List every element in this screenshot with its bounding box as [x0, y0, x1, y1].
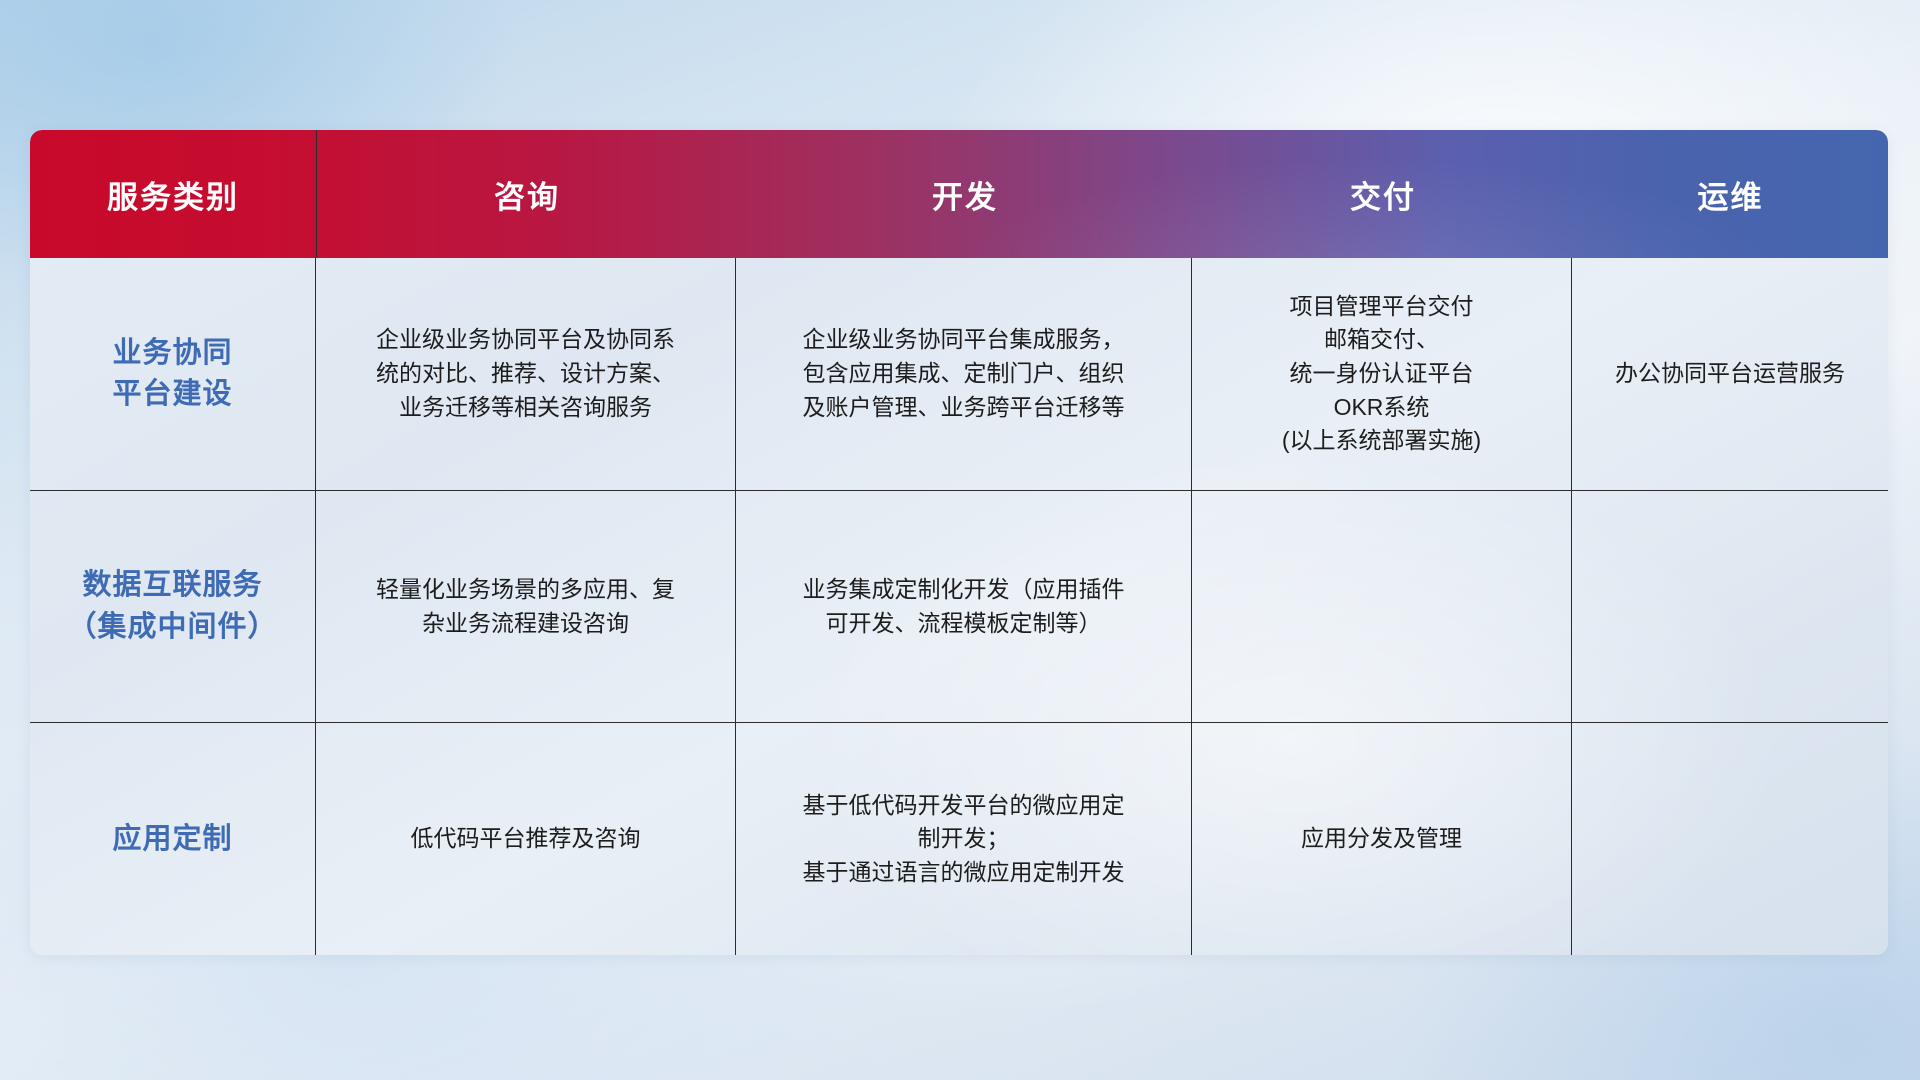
- cell-development: 基于低代码开发平台的微应用定 制开发； 基于通过语言的微应用定制开发: [736, 723, 1192, 955]
- cell-development: 业务集成定制化开发（应用插件 可开发、流程模板定制等）: [736, 491, 1192, 723]
- table-row: 数据互联服务 （集成中间件） 轻量化业务场景的多应用、复 杂业务流程建设咨询 业…: [30, 491, 1888, 724]
- cell-consulting: 企业级业务协同平台及协同系 统的对比、推荐、设计方案、 业务迁移等相关咨询服务: [316, 258, 736, 490]
- service-category-table-wrapper: 服务类别 咨询 开发 交付 运维 业务协同 平台建设 企业级业务协同平台及协同系…: [30, 130, 1888, 955]
- table-header-row: 服务类别 咨询 开发 交付 运维: [30, 130, 1888, 258]
- table-row: 业务协同 平台建设 企业级业务协同平台及协同系 统的对比、推荐、设计方案、 业务…: [30, 258, 1888, 491]
- column-header-operations: 运维: [1573, 130, 1888, 258]
- column-header-consulting: 咨询: [317, 130, 737, 258]
- service-category-table: 服务类别 咨询 开发 交付 运维 业务协同 平台建设 企业级业务协同平台及协同系…: [30, 130, 1888, 955]
- cell-consulting: 低代码平台推荐及咨询: [316, 723, 736, 955]
- column-header-delivery: 交付: [1193, 130, 1573, 258]
- row-category-label: 业务协同 平台建设: [30, 258, 316, 490]
- cell-operations: 办公协同平台运营服务: [1572, 258, 1888, 490]
- row-category-label: 应用定制: [30, 723, 316, 955]
- column-header-development: 开发: [737, 130, 1193, 258]
- cell-delivery: [1192, 491, 1572, 723]
- cell-operations: [1572, 491, 1888, 723]
- cell-delivery: 项目管理平台交付 邮箱交付、 统一身份认证平台 OKR系统 (以上系统部署实施): [1192, 258, 1572, 490]
- cell-operations: [1572, 723, 1888, 955]
- cell-consulting: 轻量化业务场景的多应用、复 杂业务流程建设咨询: [316, 491, 736, 723]
- row-category-label: 数据互联服务 （集成中间件）: [30, 491, 316, 723]
- column-header-category: 服务类别: [30, 130, 317, 258]
- cell-delivery: 应用分发及管理: [1192, 723, 1572, 955]
- cell-development: 企业级业务协同平台集成服务， 包含应用集成、定制门户、组织 及账户管理、业务跨平…: [736, 258, 1192, 490]
- table-body: 业务协同 平台建设 企业级业务协同平台及协同系 统的对比、推荐、设计方案、 业务…: [30, 258, 1888, 955]
- table-row: 应用定制 低代码平台推荐及咨询 基于低代码开发平台的微应用定 制开发； 基于通过…: [30, 723, 1888, 955]
